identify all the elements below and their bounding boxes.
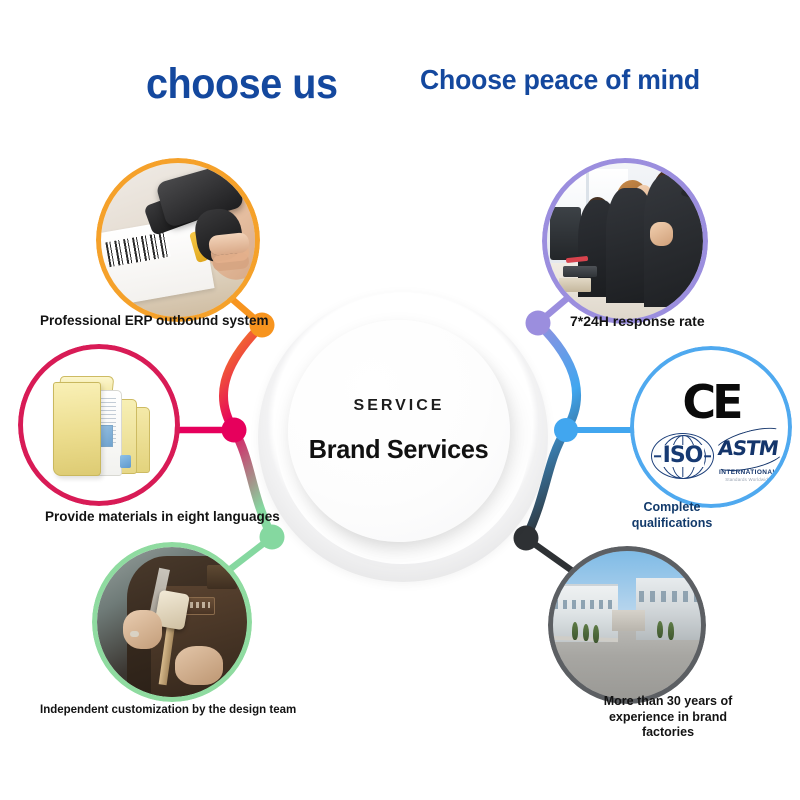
node-certifications[interactable]: CE ISO ASTM INTERNATIONAL Standards Worl… <box>630 346 792 508</box>
node-response-label: 7*24H response rate <box>570 313 705 331</box>
node-factory[interactable] <box>548 546 706 704</box>
hub-title: Brand Services <box>309 434 489 465</box>
node-factory-label: More than 30 years of experience in bran… <box>602 694 734 741</box>
node-response-ring <box>542 158 708 324</box>
node-certifications-ring <box>630 346 792 508</box>
hub-kicker: SERVICE <box>354 397 445 415</box>
node-design[interactable] <box>92 542 252 702</box>
node-erp[interactable] <box>96 158 260 322</box>
node-response[interactable] <box>542 158 708 324</box>
center-hub: SERVICE Brand Services <box>258 292 548 582</box>
node-erp-ring <box>96 158 260 322</box>
dot-certifications[interactable] <box>554 418 578 442</box>
node-certifications-label: Complete qualifications <box>632 500 713 531</box>
node-design-ring <box>92 542 252 702</box>
node-languages-label: Provide materials in eight languages <box>45 509 280 526</box>
hub-disc: SERVICE Brand Services <box>288 320 510 542</box>
infographic-canvas: choose us Choose peace of mind <box>0 0 800 800</box>
node-languages-ring <box>18 344 180 506</box>
dot-languages[interactable] <box>222 418 247 443</box>
node-design-label: Independent customization by the design … <box>40 703 296 717</box>
node-erp-label: Professional ERP outbound system <box>40 313 269 330</box>
node-languages[interactable] <box>18 344 180 506</box>
node-factory-ring <box>548 546 706 704</box>
